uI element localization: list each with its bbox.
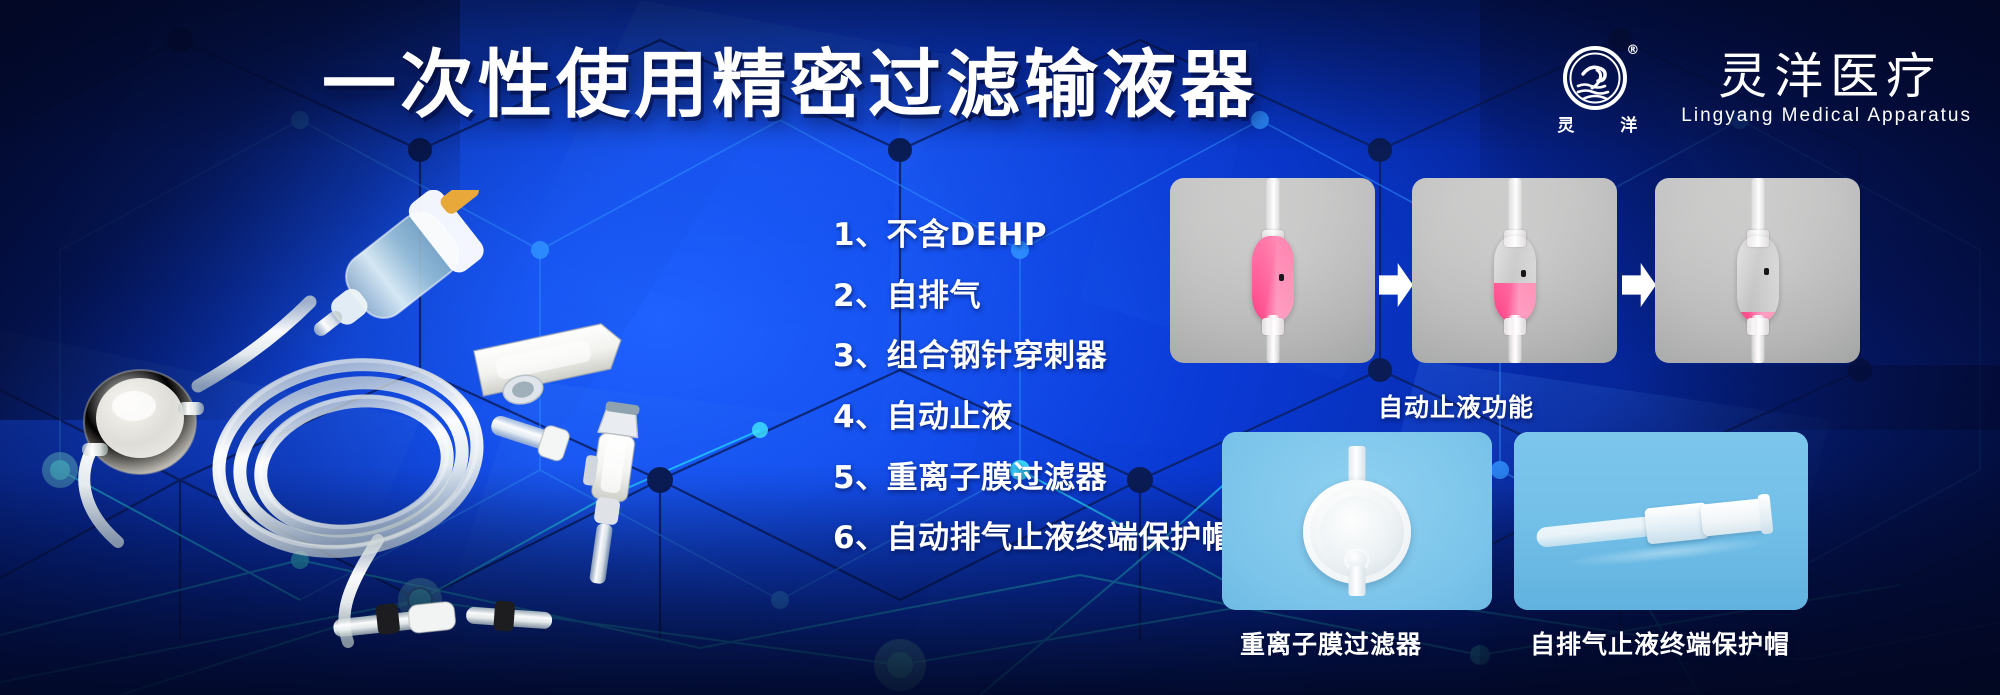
filter-body	[1737, 236, 1779, 322]
product-banner: 一次性使用精密过滤输液器 ® 灵 洋 灵洋医疗 Lingyang Medical…	[0, 0, 2000, 695]
roller-clamp-part	[474, 321, 630, 412]
caption-heavy-ion-membrane-filter: 重离子膜过滤器	[1240, 625, 1422, 661]
list-item: 5、重离子膜过滤器	[833, 461, 1233, 497]
emblem-svg	[1561, 42, 1633, 114]
photo-terminal-protective-cap	[1514, 432, 1808, 610]
sequence-photo-stage-1	[1170, 178, 1375, 363]
connector-tube	[1536, 515, 1655, 547]
filter-chamber-graphic	[1243, 178, 1303, 363]
registered-mark-icon: ®	[1626, 44, 1639, 57]
list-item: 4、自动止液	[833, 400, 1233, 436]
filter-graphic	[1297, 446, 1417, 596]
filter-body	[1494, 236, 1536, 322]
product-photo-infusion-set	[48, 190, 808, 660]
terminal-hub-part-2	[465, 598, 553, 634]
caption-terminal-protective-cap: 自排气止液终端保护帽	[1530, 625, 1790, 661]
filter-chamber-graphic	[1485, 178, 1545, 363]
glass-highlight	[1252, 236, 1294, 322]
marker-dot	[1764, 268, 1769, 275]
y-injection-port-part	[487, 408, 571, 463]
page-title: 一次性使用精密过滤输液器	[322, 48, 1258, 122]
tube-lower	[1266, 315, 1279, 363]
photo-heavy-ion-membrane-filter	[1222, 432, 1492, 610]
sequence-photo-stage-3	[1655, 178, 1860, 363]
infusion-set-illustration	[48, 190, 808, 660]
sequence-photo-stage-2	[1412, 178, 1617, 363]
company-name-cn: 灵洋医疗	[1711, 52, 1942, 101]
marker-dot	[1279, 274, 1284, 281]
drip-chamber-part	[289, 190, 541, 367]
filter-body	[1252, 236, 1294, 322]
steel-needle-part	[569, 399, 642, 586]
filter-inlet-nub	[1349, 446, 1366, 482]
marker-dot	[1521, 270, 1526, 277]
glass-highlight	[1737, 236, 1779, 322]
brand-logo: ® 灵 洋 灵洋医疗 Lingyang Medical Apparatus	[1537, 42, 1972, 135]
round-filter-part	[82, 370, 204, 474]
filter-outlet-nub	[1349, 566, 1366, 596]
list-item: 6、自动排气止液终端保护帽	[833, 521, 1233, 557]
tube-lower	[1751, 315, 1764, 363]
logo-wordmark: 灵洋医疗 Lingyang Medical Apparatus	[1681, 52, 1972, 125]
company-name-en: Lingyang Medical Apparatus	[1681, 106, 1972, 125]
tube-lower	[1508, 315, 1521, 363]
sequence-caption: 自动止液功能	[1378, 388, 1534, 424]
logo-mark: ® 灵 洋	[1537, 42, 1657, 135]
logo-emblem-subtext: 灵 洋	[1537, 118, 1657, 135]
glass-highlight	[1494, 236, 1536, 322]
connector-cap	[1700, 498, 1767, 537]
lingyang-circular-emblem-icon: ®	[1561, 42, 1633, 114]
filter-chamber-graphic	[1728, 178, 1788, 363]
